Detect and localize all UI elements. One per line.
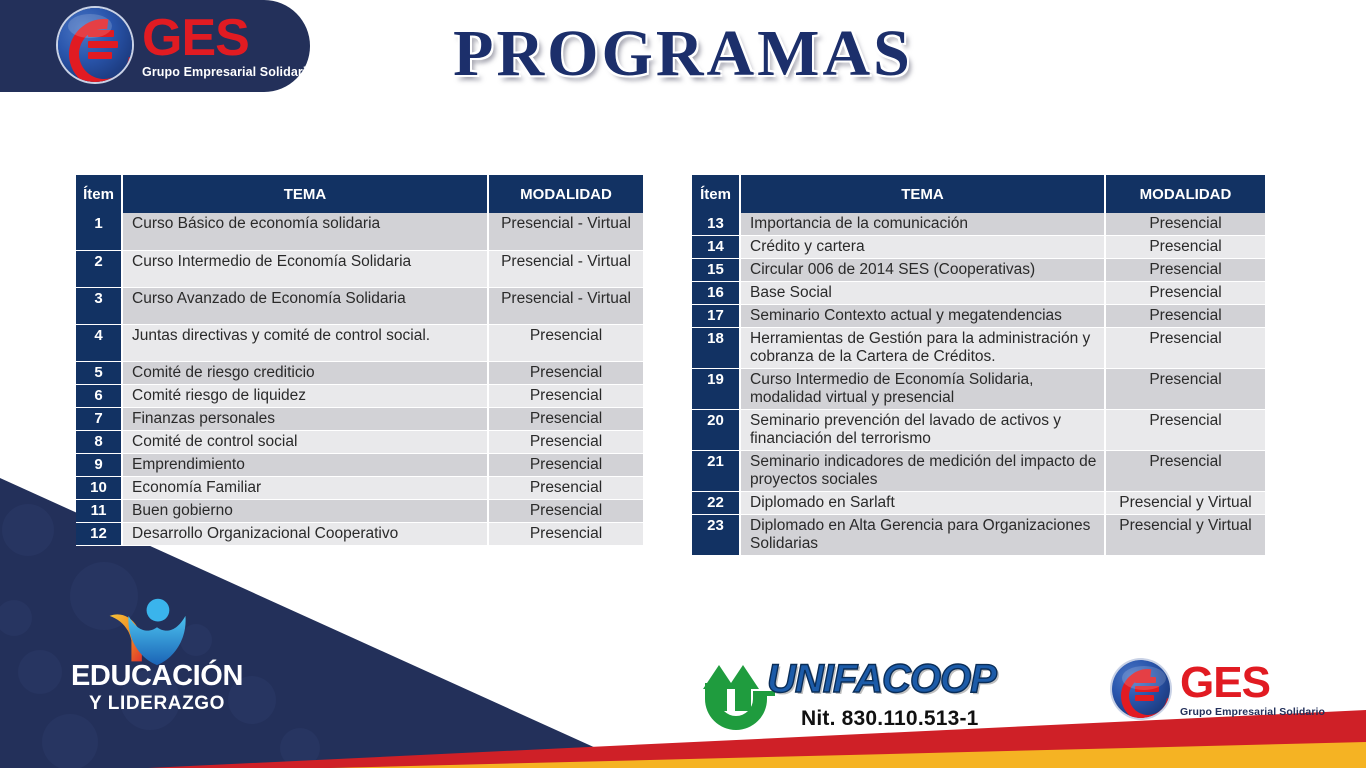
table-row: 19Curso Intermedio de Economía Solidaria…	[692, 369, 1265, 410]
table-row: 7Finanzas personalesPresencial	[76, 407, 643, 430]
table-header-row: Ítem TEMA MODALIDAD	[692, 175, 1265, 213]
cell-tema: Importancia de la comunicación	[740, 213, 1105, 236]
cell-item: 16	[692, 282, 740, 305]
ges-globe-icon	[1112, 660, 1170, 718]
cell-tema: Diplomado en Sarlaft	[740, 492, 1105, 515]
programs-table-right: Ítem TEMA MODALIDAD 13Importancia de la …	[692, 175, 1265, 556]
green-arrows-icon	[697, 655, 775, 733]
cell-item: 8	[76, 430, 122, 453]
cell-item: 23	[692, 515, 740, 556]
table-row: 8Comité de control socialPresencial	[76, 430, 643, 453]
cell-tema: Curso Intermedio de Economía Solidaria, …	[740, 369, 1105, 410]
table-row: 16Base SocialPresencial	[692, 282, 1265, 305]
cell-modalidad: Presencial - Virtual	[488, 250, 643, 287]
cell-tema: Base Social	[740, 282, 1105, 305]
cell-item: 11	[76, 499, 122, 522]
cell-modalidad: Presencial	[1105, 451, 1265, 492]
cell-tema: Curso Intermedio de Economía Solidaria	[122, 250, 488, 287]
educacion-liderazgo-logo: EDUCACIÓN Y LIDERAZGO	[52, 595, 262, 715]
cell-modalidad: Presencial	[488, 522, 643, 545]
table-row: 17Seminario Contexto actual y megatenden…	[692, 305, 1265, 328]
cell-tema: Seminario Contexto actual y megatendenci…	[740, 305, 1105, 328]
cell-modalidad: Presencial	[488, 499, 643, 522]
cell-item: 21	[692, 451, 740, 492]
table-row: 2Curso Intermedio de Economía SolidariaP…	[76, 250, 643, 287]
cell-modalidad: Presencial	[1105, 369, 1265, 410]
page-title: PROGRAMAS	[0, 16, 1366, 92]
cell-item: 15	[692, 259, 740, 282]
table-row: 12Desarrollo Organizacional CooperativoP…	[76, 522, 643, 545]
column-header-item: Ítem	[692, 175, 740, 213]
cell-modalidad: Presencial y Virtual	[1105, 492, 1265, 515]
column-header-tema: TEMA	[122, 175, 488, 213]
column-header-modalidad: MODALIDAD	[488, 175, 643, 213]
table-row: 5Comité de riesgo crediticioPresencial	[76, 361, 643, 384]
cell-tema: Herramientas de Gestión para la administ…	[740, 328, 1105, 369]
table-row: 22Diplomado en SarlaftPresencial y Virtu…	[692, 492, 1265, 515]
cell-tema: Circular 006 de 2014 SES (Cooperativas)	[740, 259, 1105, 282]
cell-tema: Buen gobierno	[122, 499, 488, 522]
cell-modalidad: Presencial	[1105, 410, 1265, 451]
cell-tema: Desarrollo Organizacional Cooperativo	[122, 522, 488, 545]
unifacoop-nit: Nit. 830.110.513-1	[801, 707, 979, 731]
cell-item: 19	[692, 369, 740, 410]
cell-modalidad: Presencial	[488, 324, 643, 361]
cell-modalidad: Presencial - Virtual	[488, 287, 643, 324]
cell-modalidad: Presencial	[1105, 259, 1265, 282]
cell-modalidad: Presencial - Virtual	[488, 213, 643, 250]
cell-modalidad: Presencial	[488, 453, 643, 476]
cell-modalidad: Presencial y Virtual	[1105, 515, 1265, 556]
cell-tema: Seminario indicadores de medición del im…	[740, 451, 1105, 492]
cell-modalidad: Presencial	[488, 384, 643, 407]
table-row: 10Economía FamiliarPresencial	[76, 476, 643, 499]
cell-tema: Comité de control social	[122, 430, 488, 453]
cell-modalidad: Presencial	[1105, 236, 1265, 259]
slide-canvas: GES Grupo Empresarial Solidario PROGRAMA…	[0, 0, 1366, 768]
table-row: 4Juntas directivas y comité de control s…	[76, 324, 643, 361]
table-row: 20Seminario prevención del lavado de act…	[692, 410, 1265, 451]
cell-item: 22	[692, 492, 740, 515]
table-row: 23Diplomado en Alta Gerencia para Organi…	[692, 515, 1265, 556]
cell-tema: Curso Avanzado de Economía Solidaria	[122, 287, 488, 324]
cell-tema: Finanzas personales	[122, 407, 488, 430]
table-body-left: 1Curso Básico de economía solidariaPrese…	[76, 213, 643, 545]
cell-modalidad: Presencial	[488, 361, 643, 384]
cell-item: 17	[692, 305, 740, 328]
table-row: 15Circular 006 de 2014 SES (Cooperativas…	[692, 259, 1265, 282]
person-swoosh-icon	[52, 595, 262, 657]
cell-modalidad: Presencial	[1105, 328, 1265, 369]
cell-item: 14	[692, 236, 740, 259]
cell-modalidad: Presencial	[488, 430, 643, 453]
cell-item: 20	[692, 410, 740, 451]
cell-item: 18	[692, 328, 740, 369]
ges-logo-footer: GES Grupo Empresarial Solidario	[1112, 660, 1325, 718]
programs-table-left: Ítem TEMA MODALIDAD 1Curso Básico de eco…	[76, 175, 643, 546]
column-header-modalidad: MODALIDAD	[1105, 175, 1265, 213]
table-row: 1Curso Básico de economía solidariaPrese…	[76, 213, 643, 250]
cell-item: 10	[76, 476, 122, 499]
cell-modalidad: Presencial	[1105, 213, 1265, 236]
cell-tema: Seminario prevención del lavado de activ…	[740, 410, 1105, 451]
cell-tema: Curso Básico de economía solidaria	[122, 213, 488, 250]
cell-item: 7	[76, 407, 122, 430]
cell-item: 6	[76, 384, 122, 407]
cell-tema: Crédito y cartera	[740, 236, 1105, 259]
cell-modalidad: Presencial	[488, 476, 643, 499]
table-row: 13Importancia de la comunicaciónPresenci…	[692, 213, 1265, 236]
cell-tema: Comité riesgo de liquidez	[122, 384, 488, 407]
column-header-item: Ítem	[76, 175, 122, 213]
cell-tema: Juntas directivas y comité de control so…	[122, 324, 488, 361]
cell-tema: Economía Familiar	[122, 476, 488, 499]
cell-item: 1	[76, 213, 122, 250]
cell-item: 9	[76, 453, 122, 476]
table-row: 21Seminario indicadores de medición del …	[692, 451, 1265, 492]
ges-tagline: Grupo Empresarial Solidario	[1180, 707, 1325, 718]
cell-modalidad: Presencial	[488, 407, 643, 430]
table-body-right: 13Importancia de la comunicaciónPresenci…	[692, 213, 1265, 556]
yellow-stripe	[330, 742, 1366, 768]
cell-modalidad: Presencial	[1105, 305, 1265, 328]
cell-item: 4	[76, 324, 122, 361]
cell-tema: Emprendimiento	[122, 453, 488, 476]
table-row: 18Herramientas de Gestión para la admini…	[692, 328, 1265, 369]
cell-item: 13	[692, 213, 740, 236]
cell-item: 12	[76, 522, 122, 545]
ges-wordmark: GES	[1180, 661, 1325, 705]
table-row: 3Curso Avanzado de Economía SolidariaPre…	[76, 287, 643, 324]
cell-tema: Comité de riesgo crediticio	[122, 361, 488, 384]
cell-modalidad: Presencial	[1105, 282, 1265, 305]
table-header-row: Ítem TEMA MODALIDAD	[76, 175, 643, 213]
table-row: 9EmprendimientoPresencial	[76, 453, 643, 476]
cell-item: 5	[76, 361, 122, 384]
cell-tema: Diplomado en Alta Gerencia para Organiza…	[740, 515, 1105, 556]
educacion-line2: Y LIDERAZGO	[52, 693, 262, 715]
table-row: 14Crédito y carteraPresencial	[692, 236, 1265, 259]
cell-item: 2	[76, 250, 122, 287]
table-row: 11Buen gobiernoPresencial	[76, 499, 643, 522]
unifacoop-wordmark: UNIFACOOP	[767, 657, 996, 702]
table-row: 6Comité riesgo de liquidezPresencial	[76, 384, 643, 407]
column-header-tema: TEMA	[740, 175, 1105, 213]
cell-item: 3	[76, 287, 122, 324]
